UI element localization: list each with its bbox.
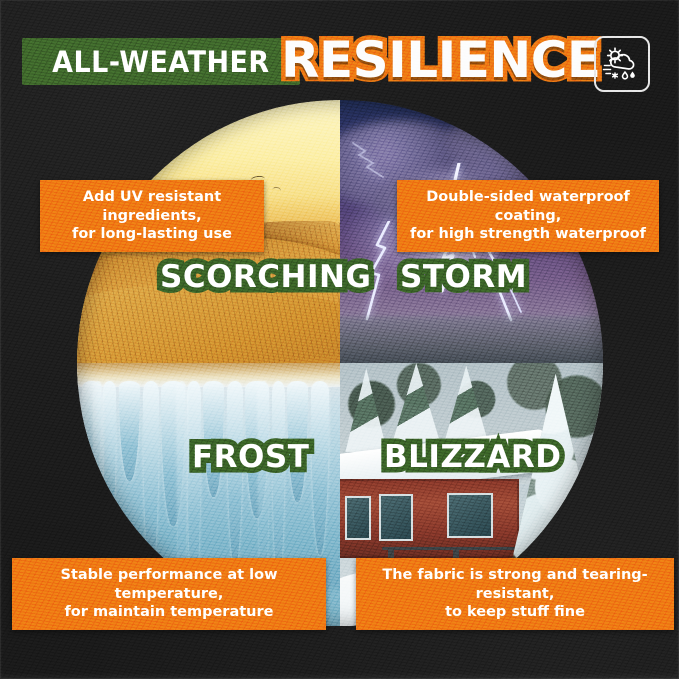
- label-frost: FROST: [192, 442, 309, 473]
- label-blizzard: BLIZZARD: [384, 442, 561, 473]
- callout-blizzard: The fabric is strong and tearing-resista…: [356, 558, 674, 630]
- cabin-window: [447, 493, 493, 538]
- callout-scorching: Add UV resistant ingredients, for long-l…: [40, 180, 264, 252]
- storm-horizon: [340, 316, 603, 363]
- icicle: [143, 381, 159, 576]
- sun-cloud-rain-snow-icon: [594, 36, 650, 92]
- callout-frost: Stable performance at low temperature, f…: [12, 558, 326, 630]
- all-weather-banner: ALL-WEATHER: [22, 38, 300, 85]
- weather-collage-circle: [77, 100, 603, 626]
- callout-storm: Double-sided waterproof coating, for hig…: [397, 180, 659, 252]
- all-weather-label: ALL-WEATHER: [52, 45, 269, 79]
- icicle: [119, 381, 140, 481]
- icicle: [311, 381, 329, 555]
- label-scorching: SCORCHING: [160, 262, 371, 293]
- resilience-label: RESILIENCE: [281, 35, 601, 85]
- icicle: [272, 381, 285, 586]
- cabin-wall: [340, 479, 519, 558]
- header: ALL-WEATHER RESILIENCE: [0, 0, 679, 105]
- promo-graphic: ALL-WEATHER RESILIENCE: [0, 0, 679, 679]
- lightning-bolt-icon: [351, 137, 387, 181]
- cabin-window: [379, 494, 413, 541]
- label-storm: STORM: [400, 262, 527, 293]
- resilience-title: RESILIENCE: [281, 26, 581, 94]
- bird-icon: [271, 186, 281, 194]
- cabin-window: [345, 496, 372, 539]
- icicle: [103, 381, 116, 555]
